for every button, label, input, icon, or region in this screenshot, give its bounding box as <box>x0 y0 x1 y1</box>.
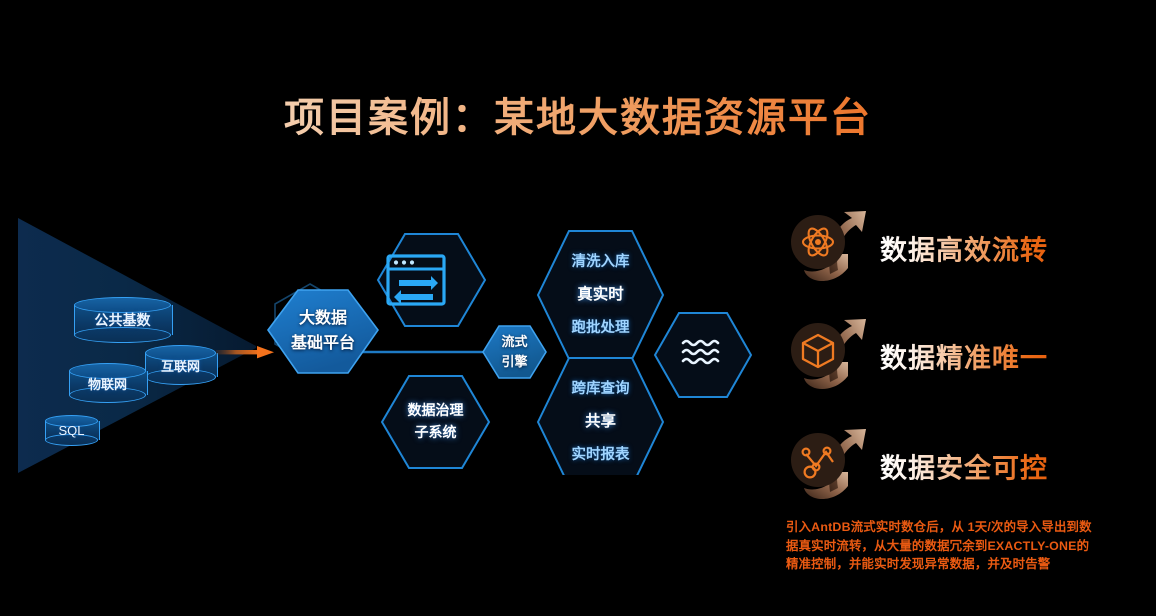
caption-line-3: 精准控制，并能实时发现异常数据，并及时告警 <box>786 555 1148 574</box>
source-label: 互联网 <box>161 356 200 375</box>
node-platform-line1: 大数据 <box>299 307 347 332</box>
node-governance[interactable]: 数据治理 子系统 <box>382 376 489 468</box>
node-governance-line1: 数据治理 <box>408 400 464 422</box>
source-cylinder-public: 公共基数 <box>74 297 171 343</box>
slide-canvas: 项目案例：某地大数据资源平台 公共基数 互联网 物联网 SQ <box>0 0 1156 616</box>
node-upper-line1: 清洗入库 <box>572 251 630 273</box>
source-label: 公共基数 <box>95 310 151 330</box>
caption-line-2: 据真实时流转，从大量的数据冗余到EXACTLY-ONE的 <box>786 537 1148 556</box>
node-upper-line3: 跑批处理 <box>572 317 630 339</box>
atom-icon <box>786 208 872 286</box>
node-lower-line1: 跨库查询 <box>572 378 630 400</box>
node-upper-line2: 真实时 <box>577 283 624 307</box>
window-exchange-icon <box>385 252 447 308</box>
node-engine-line1: 流式 <box>501 332 527 352</box>
feature-item-2[interactable]: 数据精准唯一 <box>786 316 1146 396</box>
source-cylinder-sql: SQL <box>45 415 98 446</box>
node-engine-line2: 引擎 <box>501 352 527 372</box>
node-lower-line2: 共享 <box>585 410 616 434</box>
cube-icon <box>786 316 872 394</box>
feature-label-2: 数据精准唯一 <box>880 337 1048 376</box>
node-ingest-processing[interactable]: 清洗入库 真实时 跑批处理 <box>538 231 663 359</box>
node-platform[interactable]: 大数据 基础平台 <box>268 290 378 373</box>
feature-label-3: 数据安全可控 <box>880 447 1048 486</box>
source-cylinder-iot: 物联网 <box>69 363 146 403</box>
caption-line-1: 引入AntDB流式实时数仓后，从 1天/次的导入导出到数 <box>786 518 1148 537</box>
node-lower-line3: 实时报表 <box>572 444 630 466</box>
network-nodes-icon <box>786 426 872 504</box>
source-label: 物联网 <box>88 374 127 393</box>
node-query-share[interactable]: 跨库查询 共享 实时报表 <box>538 358 663 486</box>
caption-block: 引入AntDB流式实时数仓后，从 1天/次的导入导出到数 据真实时流转，从大量的… <box>786 518 1148 574</box>
node-governance-line2: 子系统 <box>415 422 457 444</box>
node-platform-line2: 基础平台 <box>291 332 355 357</box>
page-title: 项目案例：某地大数据资源平台 <box>0 92 1156 144</box>
source-label: SQL <box>58 423 84 438</box>
source-cylinder-internet: 互联网 <box>145 345 216 385</box>
feature-item-3[interactable]: 数据安全可控 <box>786 426 1146 506</box>
node-streaming-engine[interactable]: 流式 引擎 <box>483 326 546 378</box>
water-waves-icon <box>681 337 725 367</box>
feature-item-1[interactable]: 数据高效流转 <box>786 208 1146 288</box>
feature-label-1: 数据高效流转 <box>880 229 1048 268</box>
